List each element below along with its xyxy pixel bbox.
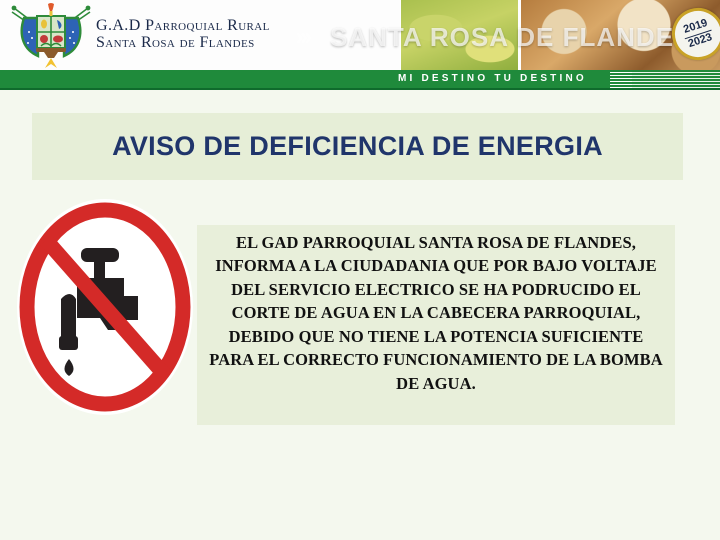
coat-of-arms-icon [8, 2, 94, 68]
institution-name: G.A.D Parroquial Rural Santa Rosa de Fla… [96, 18, 270, 52]
no-water-tap-sign-icon [14, 196, 196, 418]
notice-title-panel: AVISO DE DEFICIENCIA DE ENERGIA [32, 113, 683, 180]
header-slogan: MI DESTINO TU DESTINO [398, 73, 587, 84]
page-header: ››› SANTA ROSA DE FLANDES 2019 2023 [0, 0, 720, 90]
institution-name-line2: Santa Rosa de Flandes [96, 35, 270, 52]
institution-name-line1: G.A.D Parroquial Rural [96, 18, 270, 35]
poster-canvas: ››› SANTA ROSA DE FLANDES 2019 2023 [0, 0, 720, 540]
header-underline-rule [0, 88, 720, 90]
notice-body-panel: EL GAD PARROQUIAL SANTA ROSA DE FLANDES,… [197, 225, 675, 425]
bar-stripe-pattern-inner [610, 70, 632, 88]
header-overlay-title: SANTA ROSA DE FLANDES [330, 22, 720, 53]
header-green-bar: MI DESTINO TU DESTINO [0, 70, 720, 88]
page-title: AVISO DE DEFICIENCIA DE ENERGIA [112, 131, 603, 162]
chevron-right-icon: ››› [296, 24, 309, 50]
notice-body-text: EL GAD PARROQUIAL SANTA ROSA DE FLANDES,… [197, 225, 675, 395]
